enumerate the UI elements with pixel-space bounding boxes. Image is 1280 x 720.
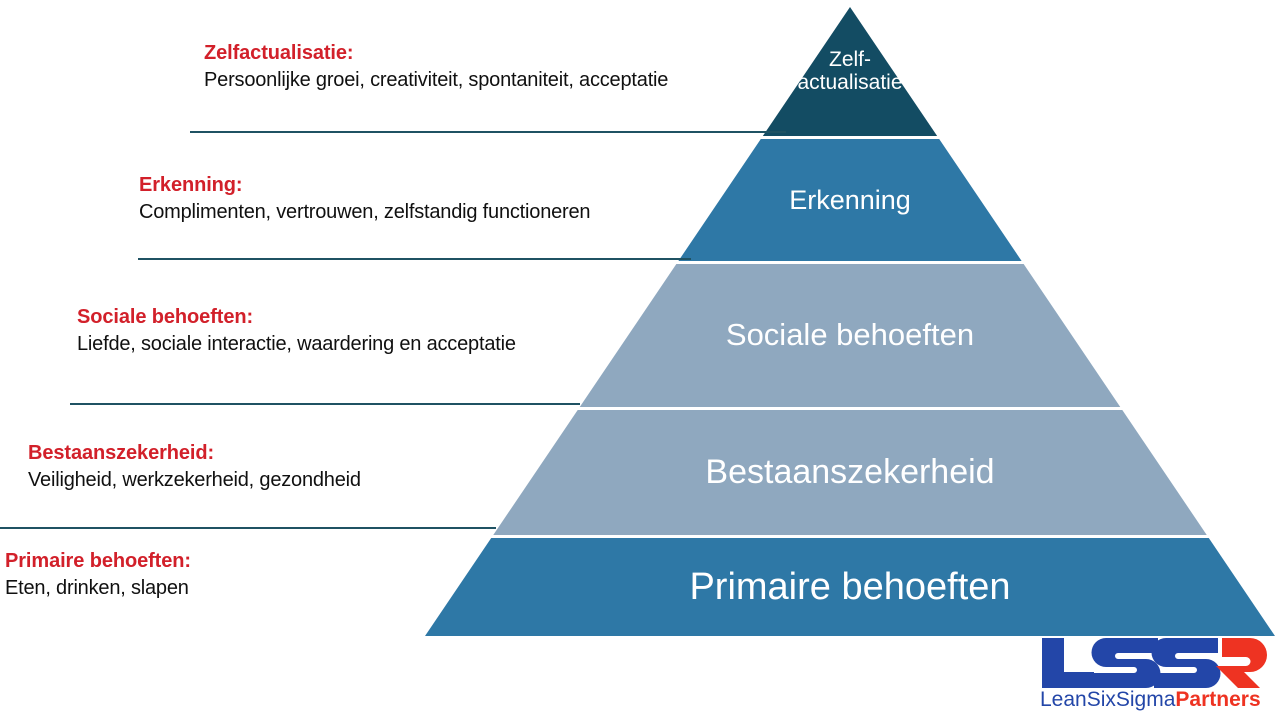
logo-letter-s2-icon: [1152, 638, 1221, 688]
logo-letter-p-icon: [1216, 638, 1267, 688]
callout-title-zelfactualisatie: Zelfactualisatie:: [204, 41, 668, 66]
callout-erkenning: Erkenning:Complimenten, vertrouwen, zelf…: [139, 173, 590, 225]
callout-description-zelfactualisatie: Persoonlijke groei, creativiteit, sponta…: [204, 68, 668, 93]
lssp-logo: LeanSixSigma Partners: [1030, 632, 1274, 712]
callout-title-bestaanszekerheid: Bestaanszekerheid:: [28, 441, 361, 466]
logo-letter-l-icon: [1042, 638, 1094, 688]
pyramid-tier-sociale-behoeften[interactable]: [580, 264, 1121, 407]
callout-divider-sociale-behoeften: [70, 403, 580, 405]
callout-divider-erkenning: [138, 258, 691, 260]
callout-description-sociale-behoeften: Liefde, sociale interactie, waardering e…: [77, 332, 516, 357]
callout-title-erkenning: Erkenning:: [139, 173, 590, 198]
logo-letter-s1-icon: [1092, 638, 1161, 688]
callout-title-primaire-behoeften: Primaire behoeften:: [5, 549, 191, 574]
callout-sociale-behoeften: Sociale behoeften:Liefde, sociale intera…: [77, 305, 516, 357]
pyramid-tier-bestaanszekerheid[interactable]: [493, 410, 1207, 535]
pyramid-tier-primaire-behoeften[interactable]: [425, 538, 1275, 636]
callout-description-bestaanszekerheid: Veiligheid, werkzekerheid, gezondheid: [28, 468, 361, 493]
callout-primaire-behoeften: Primaire behoeften:Eten, drinken, slapen: [5, 549, 191, 601]
callout-description-erkenning: Complimenten, vertrouwen, zelfstandig fu…: [139, 200, 590, 225]
callout-divider-zelfactualisatie: [190, 131, 786, 133]
callout-description-primaire-behoeften: Eten, drinken, slapen: [5, 576, 191, 601]
callout-divider-bestaanszekerheid: [0, 527, 496, 529]
callout-bestaanszekerheid: Bestaanszekerheid:Veiligheid, werkzekerh…: [28, 441, 361, 493]
logo-wordmark-primary: LeanSixSigma: [1040, 688, 1176, 711]
callout-title-sociale-behoeften: Sociale behoeften:: [77, 305, 516, 330]
maslow-pyramid: [0, 0, 1280, 720]
pyramid-tier-erkenning[interactable]: [678, 139, 1021, 261]
slide-canvas: Zelf- actualisatieErkenningSociale behoe…: [0, 0, 1280, 720]
logo-wordmark-accent: Partners: [1175, 688, 1260, 711]
pyramid-tier-zelfactualisatie[interactable]: [763, 7, 937, 136]
callout-zelfactualisatie: Zelfactualisatie:Persoonlijke groei, cre…: [204, 41, 668, 93]
